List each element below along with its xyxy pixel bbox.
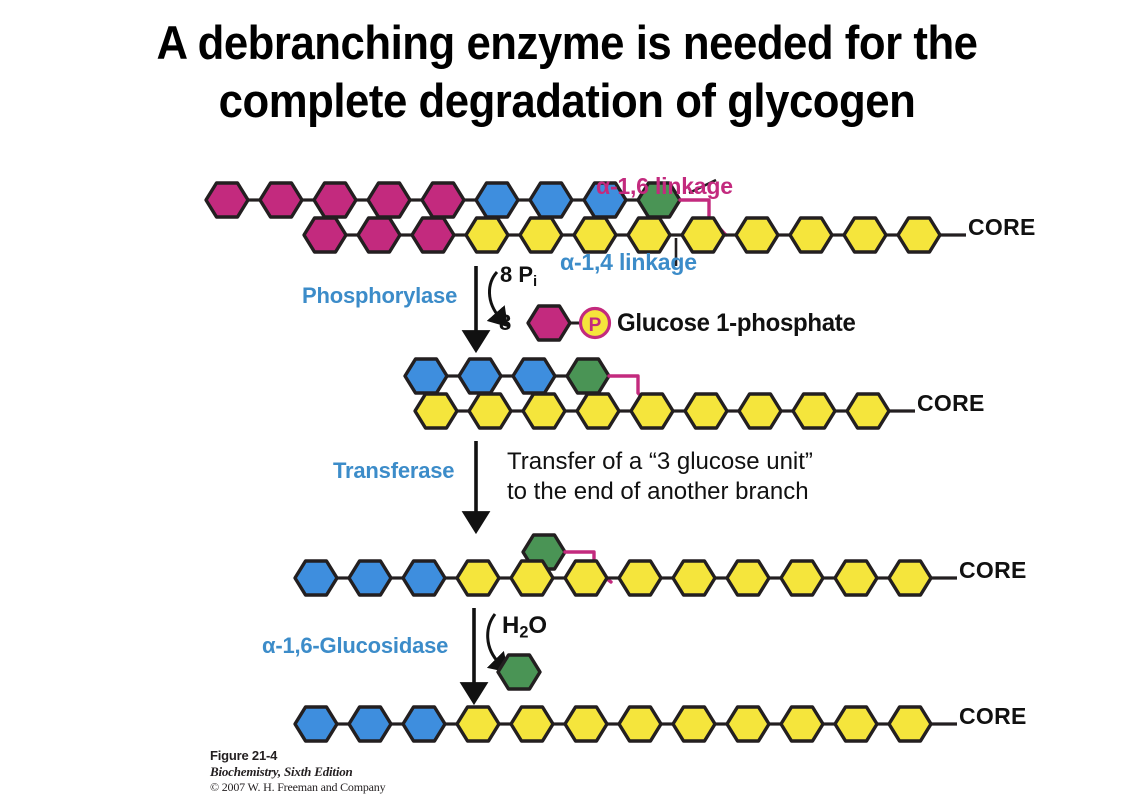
residue-yellow <box>415 394 457 428</box>
step-glucosidase-arrows <box>474 608 500 690</box>
residue-magenta <box>314 183 356 217</box>
residue-yellow <box>523 394 565 428</box>
chain-4 <box>295 707 957 741</box>
residue-magenta <box>358 218 400 252</box>
residue-magenta <box>304 218 346 252</box>
residue-blue <box>349 561 391 595</box>
water-h: H <box>502 612 519 639</box>
residue-magenta <box>368 183 410 217</box>
substrate-label-pi: 8 Pi <box>500 262 537 290</box>
product-count-label: 8 <box>499 310 511 336</box>
alpha-1-6-linkage-label: α-1,6 linkage <box>596 173 733 200</box>
residue-yellow <box>466 218 508 252</box>
residue-magenta <box>422 183 464 217</box>
residue-yellow <box>844 218 886 252</box>
phosphate-letter: P <box>589 315 602 336</box>
residue-yellow <box>520 218 562 252</box>
residue-blue <box>459 359 501 393</box>
residue-yellow <box>727 561 769 595</box>
residue-yellow <box>511 561 553 595</box>
residue-yellow <box>835 707 877 741</box>
residue-yellow <box>619 707 661 741</box>
residue-blue <box>403 707 445 741</box>
residue-yellow <box>682 218 724 252</box>
transferase-note: Transfer of a “3 glucose unit” to the en… <box>507 447 813 507</box>
residue-yellow <box>727 707 769 741</box>
residue-yellow <box>628 218 670 252</box>
residue-yellow <box>685 394 727 428</box>
water-o: O <box>528 612 547 639</box>
residue-yellow <box>619 561 661 595</box>
residue-yellow <box>835 561 877 595</box>
residue-magenta <box>528 306 570 340</box>
credit-figure-number: Figure 21-4 <box>210 748 385 764</box>
residue-magenta <box>206 183 248 217</box>
glucose-1-phosphate-glyph: P <box>528 306 610 340</box>
residue-yellow <box>565 561 607 595</box>
core-label-chain-3: CORE <box>959 557 1027 584</box>
chain-2-main-row <box>415 394 889 428</box>
residue-blue <box>405 359 447 393</box>
residue-green <box>567 359 609 393</box>
residue-yellow <box>739 394 781 428</box>
residue-yellow <box>781 707 823 741</box>
residue-magenta <box>260 183 302 217</box>
residue-blue <box>295 707 337 741</box>
residue-blue <box>349 707 391 741</box>
residue-yellow <box>469 394 511 428</box>
substrate-label-water: H2O <box>502 612 547 643</box>
residue-yellow <box>673 561 715 595</box>
curved-substrate-arrow <box>488 614 500 664</box>
residue-blue <box>476 183 518 217</box>
residue-yellow <box>574 218 616 252</box>
residue-blue <box>295 561 337 595</box>
residue-yellow <box>790 218 832 252</box>
enzyme-label-glucosidase: α-1,6-Glucosidase <box>262 633 448 659</box>
glycogen-degradation-figure: P <box>0 0 1134 800</box>
pi-main: 8 P <box>500 262 533 287</box>
residue-blue <box>530 183 572 217</box>
enzyme-label-phosphorylase: Phosphorylase <box>302 283 457 309</box>
residue-yellow <box>631 394 673 428</box>
residue-yellow <box>736 218 778 252</box>
figure-credit: Figure 21-4 Biochemistry, Sixth Edition … <box>210 748 385 795</box>
core-label-chain-2: CORE <box>917 390 985 417</box>
core-label-chain-1: CORE <box>968 214 1036 241</box>
residue-blue <box>513 359 555 393</box>
residue-green-free-glucose <box>498 655 540 689</box>
residue-yellow <box>847 394 889 428</box>
residue-yellow <box>793 394 835 428</box>
residue-yellow <box>511 707 553 741</box>
core-label-chain-4: CORE <box>959 703 1027 730</box>
residue-yellow <box>781 561 823 595</box>
residue-yellow <box>457 707 499 741</box>
step-phosphorylase-arrows <box>476 266 500 338</box>
glucose-1-phosphate-label: Glucose 1-phosphate <box>617 309 856 338</box>
chain-2 <box>405 359 915 428</box>
pi-subscript: i <box>533 273 537 290</box>
enzyme-label-transferase: Transferase <box>333 458 454 484</box>
credit-book-title: Biochemistry, Sixth Edition <box>210 764 385 780</box>
residue-yellow <box>565 707 607 741</box>
residue-yellow <box>673 707 715 741</box>
residue-yellow <box>898 218 940 252</box>
credit-copyright: © 2007 W. H. Freeman and Company <box>210 780 385 795</box>
chain-3 <box>295 535 957 595</box>
residue-blue <box>403 561 445 595</box>
residue-yellow <box>889 707 931 741</box>
residue-yellow <box>577 394 619 428</box>
residue-yellow <box>457 561 499 595</box>
residue-magenta <box>412 218 454 252</box>
residue-yellow <box>889 561 931 595</box>
alpha-1-4-linkage-label: α-1,4 linkage <box>560 249 697 276</box>
